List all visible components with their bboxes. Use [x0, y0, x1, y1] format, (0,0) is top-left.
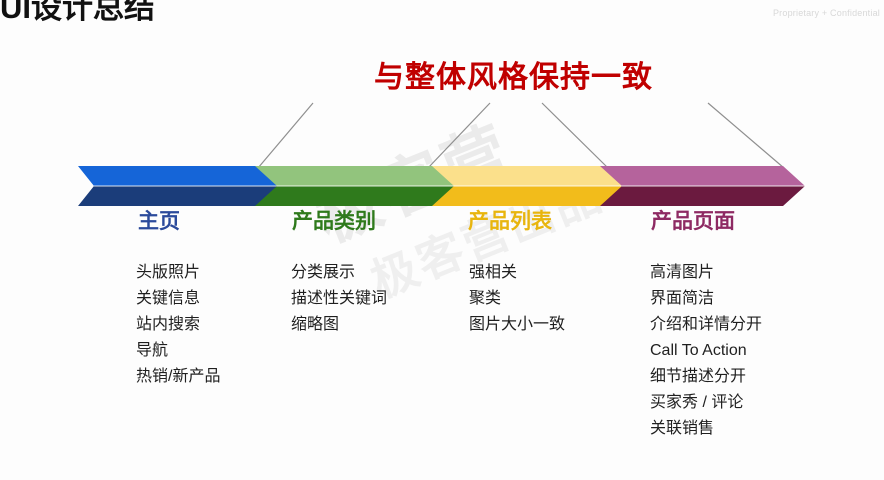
list-item: 买家秀 / 评论: [650, 390, 762, 416]
chevron-home-bottom: [78, 186, 283, 206]
chevron-category-seam: [255, 186, 460, 187]
list-item: 界面简洁: [650, 286, 762, 312]
list-item: 高清图片: [650, 260, 762, 286]
stage-items-home: 头版照片 关键信息 站内搜索 导航 热销/新产品: [136, 260, 220, 390]
chevron-product-list-seam: [432, 186, 627, 187]
slide-canvas: Proprietary + Confidential UI设计总结 与整体风格保…: [0, 0, 884, 480]
chevron-home-seam: [78, 186, 283, 187]
chevron-category[interactable]: [255, 166, 460, 206]
list-item: 热销/新产品: [136, 364, 220, 390]
list-item: 关键信息: [136, 286, 220, 312]
list-item: 图片大小一致: [469, 312, 565, 338]
stage-heading-product-list: 产品列表: [468, 211, 552, 232]
list-item: 介绍和详情分开: [650, 312, 762, 338]
list-item: 头版照片: [136, 260, 220, 286]
chevron-product-page-bottom: [600, 186, 805, 206]
confidential-note: Proprietary + Confidential: [773, 8, 880, 18]
stage-heading-home: 主页: [138, 211, 180, 232]
chevron-product-list-bottom: [432, 186, 627, 206]
list-item: 站内搜索: [136, 312, 220, 338]
chevron-home[interactable]: [78, 166, 283, 206]
chevron-product-page-seam: [600, 186, 805, 187]
list-item: 描述性关键词: [291, 286, 387, 312]
chevron-product-page-top: [600, 166, 805, 186]
connector-line-2: [428, 103, 490, 168]
connector-line-3: [542, 103, 608, 168]
connector-line-1: [258, 103, 313, 168]
list-item: 聚类: [469, 286, 565, 312]
chevron-product-list-top: [432, 166, 627, 186]
chevron-home-top: [78, 166, 283, 186]
stage-heading-product-page: 产品页面: [651, 211, 735, 232]
chevron-product-page[interactable]: [600, 166, 805, 206]
chevron-category-top: [255, 166, 460, 186]
stage-items-category: 分类展示 描述性关键词 缩略图: [291, 260, 387, 338]
connector-line-4: [708, 103, 784, 168]
stage-heading-category: 产品类别: [292, 211, 376, 232]
page-title: UI设计总结: [0, 0, 155, 23]
chevron-product-list[interactable]: [432, 166, 627, 206]
process-chevron-band: [0, 166, 884, 206]
headline-text: 与整体风格保持一致: [374, 52, 653, 96]
list-item: 分类展示: [291, 260, 387, 286]
list-item: 强相关: [469, 260, 565, 286]
list-item: 缩略图: [291, 312, 387, 338]
list-item: 导航: [136, 338, 220, 364]
stage-items-product-page: 高清图片 界面简洁 介绍和详情分开 Call To Action 细节描述分开 …: [650, 260, 762, 442]
list-item: Call To Action: [650, 338, 762, 364]
list-item: 细节描述分开: [650, 364, 762, 390]
chevron-category-bottom: [255, 186, 460, 206]
stage-items-product-list: 强相关 聚类 图片大小一致: [469, 260, 565, 338]
list-item: 关联销售: [650, 416, 762, 442]
